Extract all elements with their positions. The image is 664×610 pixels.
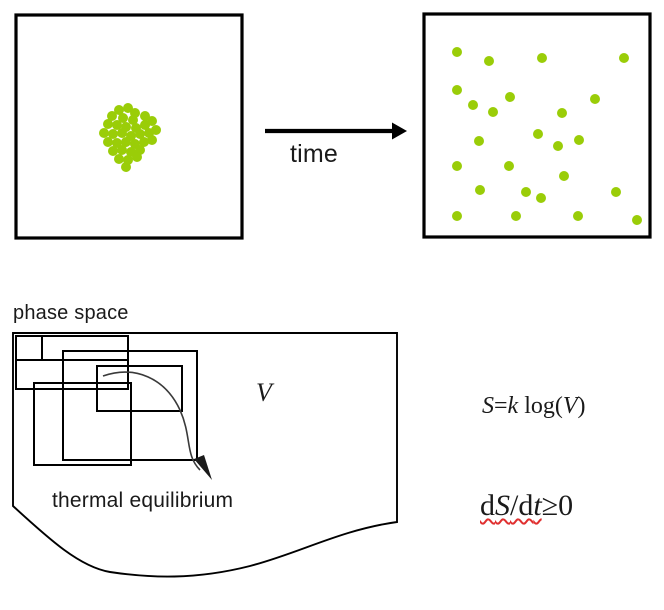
particle-dot [452, 211, 462, 221]
time-label: time [290, 140, 338, 169]
particle-dot [590, 94, 600, 104]
thermal-equilibrium-label: thermal equilibrium [52, 489, 233, 513]
particle-dot [533, 129, 543, 139]
particle-dot [619, 53, 629, 63]
particle-dot [504, 161, 514, 171]
time-arrow-head [392, 123, 407, 140]
particle-dot [108, 146, 118, 156]
particle-dot [468, 100, 478, 110]
entropy-symbol-S: S [482, 393, 494, 419]
entropy-equation: S=k log(V) [482, 393, 586, 420]
entropy-symbol-S2: S [495, 489, 510, 522]
particle-dot [536, 193, 546, 203]
particle-dot [559, 171, 569, 181]
particle-dot [505, 92, 515, 102]
second-law-equation: dS/dt≥0 [480, 489, 573, 523]
over-d: /d [510, 489, 533, 522]
particle-dot [132, 152, 142, 162]
particle-dot [147, 135, 157, 145]
particle-dot [151, 125, 161, 135]
particle-dot [553, 141, 563, 151]
particle-dot [521, 187, 531, 197]
phase-space-outline [13, 333, 397, 577]
particle-dot [117, 145, 127, 155]
particle-dot [488, 107, 498, 117]
initial-state-panel [16, 15, 242, 238]
particle-dot [103, 119, 113, 129]
final-state-panel [424, 14, 650, 237]
phase-space-region [13, 333, 397, 577]
particle-dot [574, 135, 584, 145]
particle-dot [121, 162, 131, 172]
particle-dot [511, 211, 521, 221]
particle-dot [147, 116, 157, 126]
particle-dot [103, 137, 113, 147]
differential-d1: d [480, 489, 495, 522]
greater-equal-zero: ≥0 [542, 489, 573, 522]
second-law-misspelled-run: dS/dt [480, 489, 542, 522]
time-arrow [265, 123, 407, 140]
entropy-equals: = [494, 393, 508, 419]
log-open: log( [518, 393, 563, 419]
particle-dot [114, 154, 124, 164]
particle-dot [475, 185, 485, 195]
volume-V: V [563, 393, 578, 419]
log-close: ) [578, 393, 586, 419]
particle-dot [474, 136, 484, 146]
phase-space-label: phase space [13, 302, 129, 325]
particle-dot [117, 128, 127, 138]
particle-dot [632, 215, 642, 225]
volume-symbol-label: V [256, 378, 272, 408]
boltzmann-constant-k: k [508, 393, 519, 419]
particle-dot [611, 187, 621, 197]
particle-dot [452, 47, 462, 57]
particle-dot [557, 108, 567, 118]
particle-dot [573, 211, 583, 221]
time-symbol-t: t [533, 489, 541, 522]
particle-dot [452, 85, 462, 95]
particle-dot [484, 56, 494, 66]
particle-dot [537, 53, 547, 63]
particle-dot [99, 128, 109, 138]
particle-dot [452, 161, 462, 171]
